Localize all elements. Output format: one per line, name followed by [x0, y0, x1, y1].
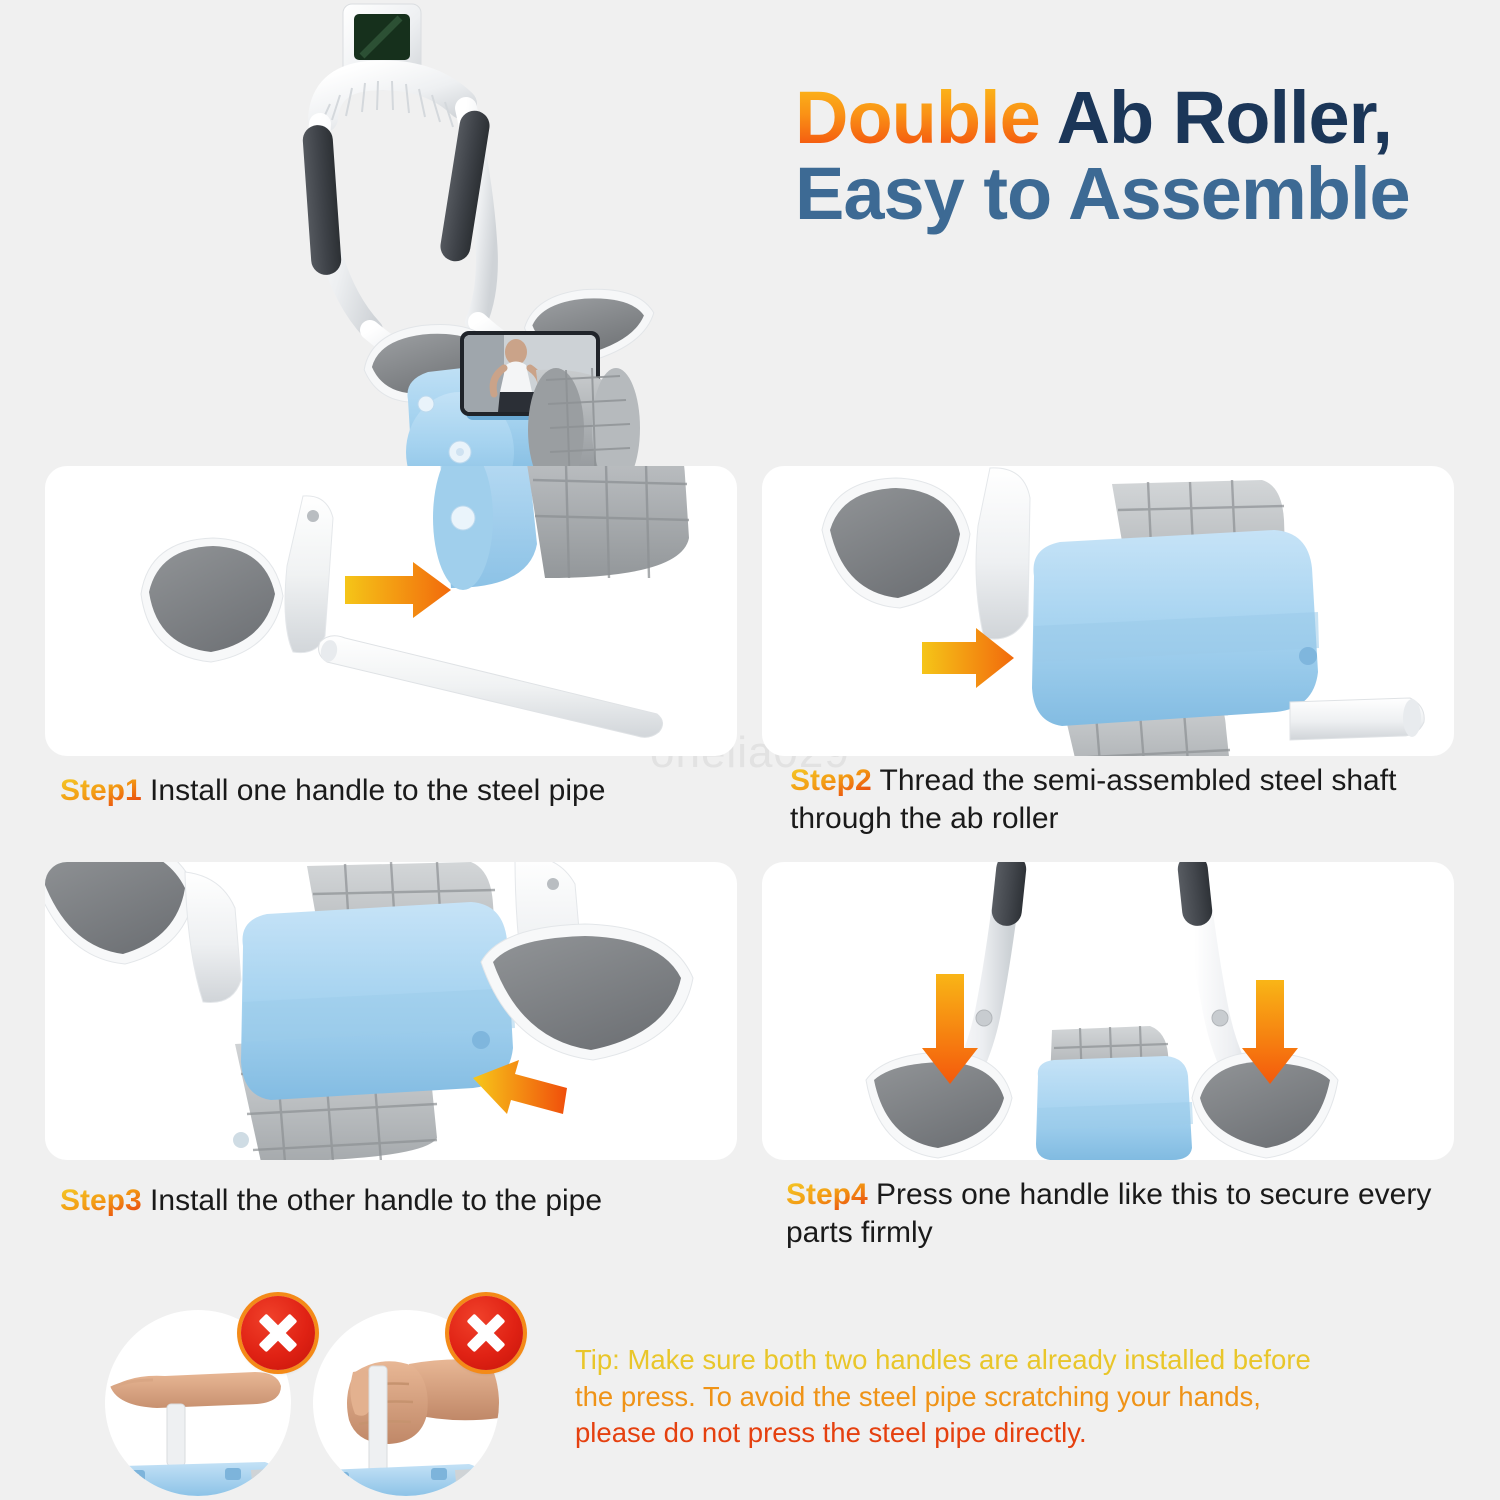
warning-thumb-fist-grip	[313, 1296, 523, 1496]
foam-grip-left	[990, 862, 1027, 927]
headline-line1-rest: Ab Roller,	[1057, 76, 1392, 159]
left-grip	[302, 124, 342, 276]
hero-section: Double Ab Roller, Easy to Assemble	[0, 0, 1500, 470]
steel-pipe	[1290, 698, 1424, 740]
elbow-pad-right	[481, 862, 693, 1060]
step2-keyword: Step2	[790, 764, 872, 797]
step1-text: Install one handle to the steel pipe	[150, 774, 605, 807]
tip-line-2: the press. To avoid the steel pipe scrat…	[575, 1379, 1435, 1416]
steel-pipe-part	[319, 636, 663, 738]
step2-text: Thread the semi-assembled steel shaft th…	[790, 764, 1396, 835]
step3-keyword: Step3	[60, 1184, 142, 1217]
step4-panel	[762, 862, 1454, 1160]
step4-illustration	[762, 862, 1454, 1160]
x-mark-icon	[449, 1296, 523, 1370]
step4-keyword: Step4	[786, 1178, 868, 1211]
step3-panel	[45, 862, 737, 1160]
step4-caption: Step4 Press one handle like this to secu…	[786, 1176, 1456, 1253]
step4-text: Press one handle like this to secure eve…	[786, 1178, 1431, 1249]
step2-illustration	[762, 466, 1454, 756]
hero-product-image	[300, 0, 770, 470]
tip-text: Tip: Make sure both two handles are alre…	[575, 1342, 1435, 1452]
tip-line-3: please do not press the steel pipe direc…	[575, 1415, 1435, 1452]
elbow-pad-left	[45, 862, 241, 1003]
headline-line2: Easy to Assemble	[795, 152, 1410, 235]
warning-thumb-flat-palm	[105, 1296, 315, 1496]
step3-caption: Step3 Install the other handle to the pi…	[60, 1182, 760, 1220]
step1-keyword: Step1	[60, 774, 142, 807]
roller-preview	[433, 466, 689, 590]
roller-assembly	[1032, 480, 1319, 756]
roller-wheel	[528, 368, 640, 470]
roller-assembly	[233, 862, 515, 1160]
handle-part	[822, 468, 1030, 639]
step1-panel	[45, 466, 737, 756]
x-mark-icon	[241, 1296, 315, 1370]
center-roller	[1036, 1026, 1193, 1160]
step1-illustration	[45, 466, 737, 756]
ribbed-arch	[320, 75, 462, 127]
arrow-right-icon	[345, 562, 451, 618]
step2-caption: Step2 Thread the semi-assembled steel sh…	[790, 762, 1450, 839]
step1-caption: Step1 Install one handle to the steel pi…	[60, 772, 760, 810]
step2-panel	[762, 466, 1454, 756]
tip-line-1: Tip: Make sure both two handles are alre…	[575, 1342, 1435, 1379]
step3-illustration	[45, 862, 737, 1160]
page-title: Double Ab Roller, Easy to Assemble	[795, 82, 1485, 232]
step3-text: Install the other handle to the pipe	[150, 1184, 602, 1217]
foam-grip-right	[1176, 862, 1213, 927]
handle-part	[141, 496, 333, 662]
headline-accent-word: Double	[795, 76, 1040, 159]
